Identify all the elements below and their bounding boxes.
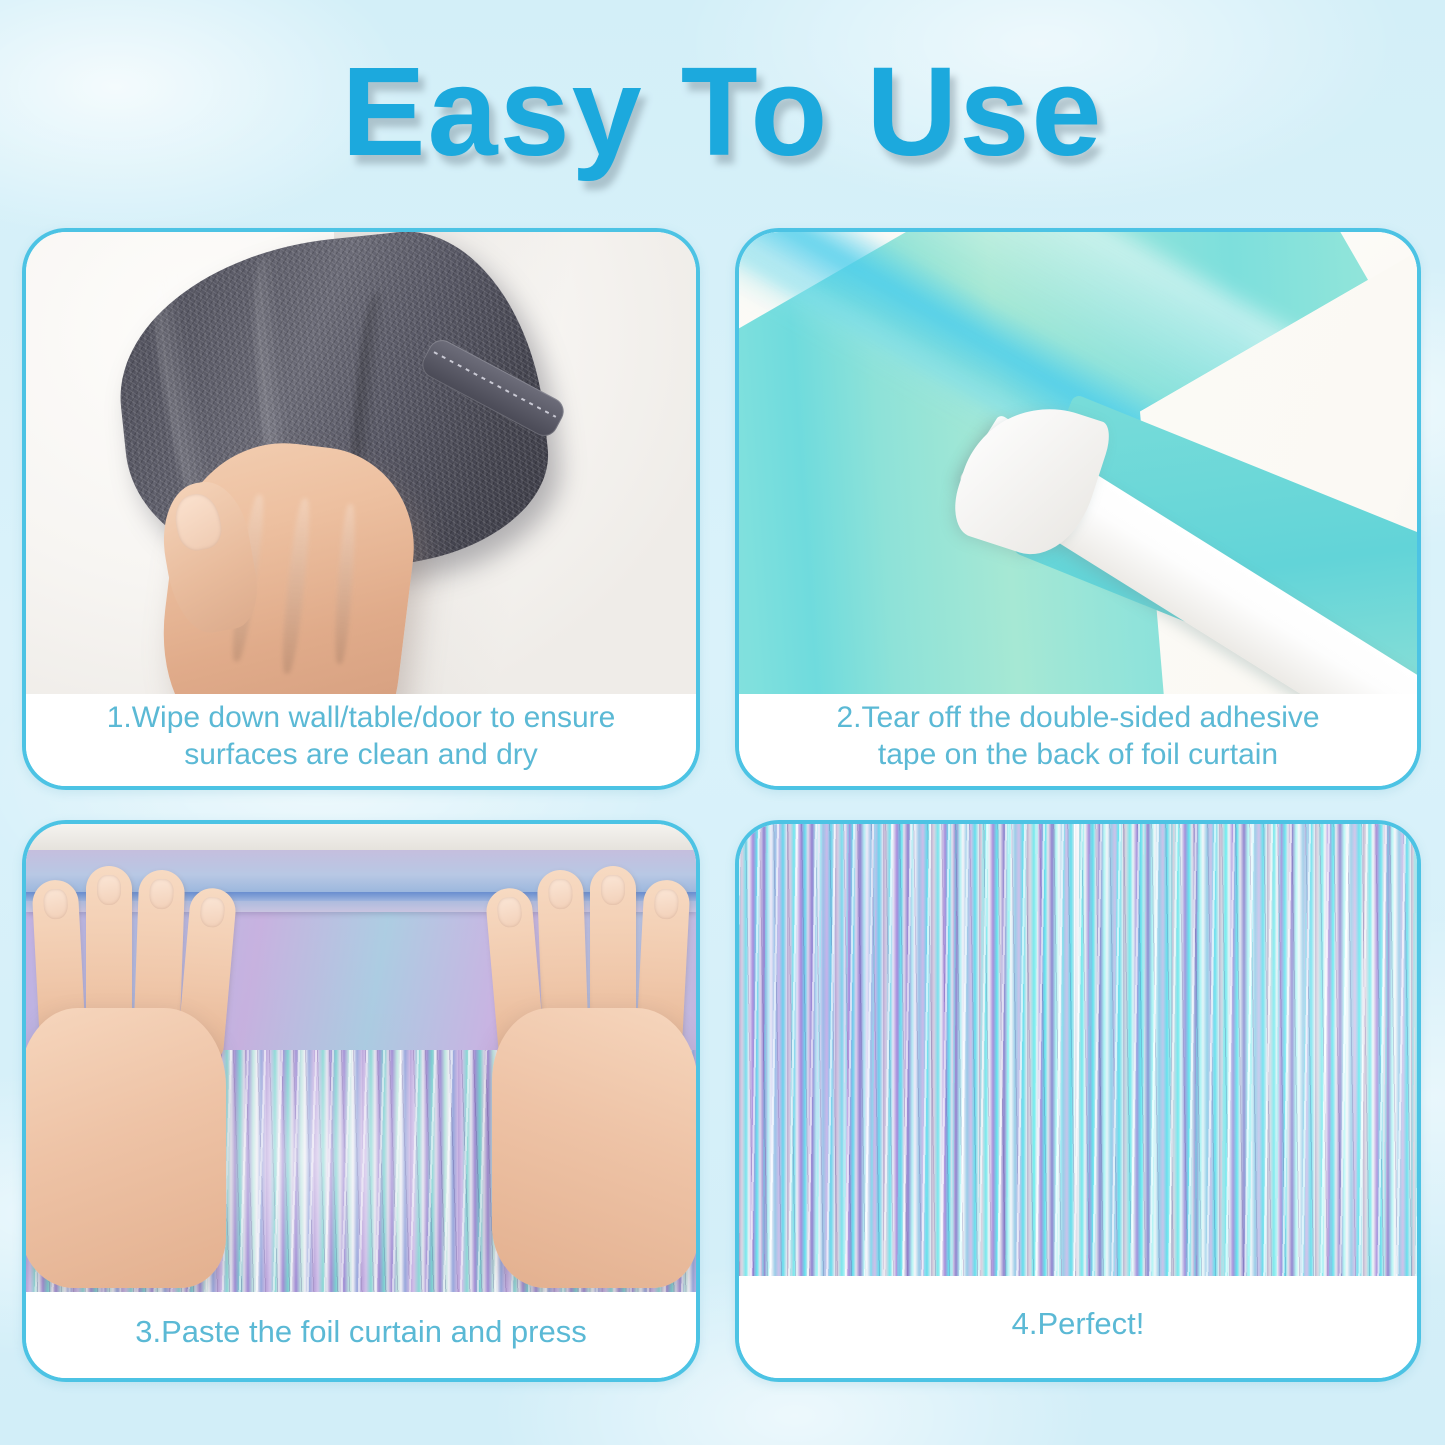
iridescent-shine (739, 824, 1417, 1276)
left-hand (26, 858, 230, 1258)
right-hand (492, 858, 696, 1258)
step-1-photo (26, 232, 696, 694)
step-4-caption: 4.Perfect! (739, 1276, 1417, 1378)
curtain-panel-seam (1074, 824, 1079, 1276)
palm (492, 1008, 696, 1288)
step-1-caption: 1.Wipe down wall/table/door to ensure su… (26, 694, 696, 786)
step-2-photo (739, 232, 1417, 694)
step-card-1: 1.Wipe down wall/table/door to ensure su… (22, 228, 700, 790)
curtain-area (26, 850, 696, 1292)
step-card-3: 3.Paste the foil curtain and press (22, 820, 700, 1382)
instruction-infographic: Easy To Use 1.Wipe down wall/table/door … (0, 0, 1445, 1445)
step-3-photo (26, 824, 696, 1292)
step-card-2: 2.Tear off the double-sided adhesive tap… (735, 228, 1421, 790)
step-4-photo (739, 824, 1417, 1276)
step-2-caption: 2.Tear off the double-sided adhesive tap… (739, 694, 1417, 786)
palm (26, 1008, 226, 1288)
step-3-caption: 3.Paste the foil curtain and press (26, 1292, 696, 1378)
step-card-4: 4.Perfect! (735, 820, 1421, 1382)
page-title: Easy To Use (0, 40, 1445, 185)
